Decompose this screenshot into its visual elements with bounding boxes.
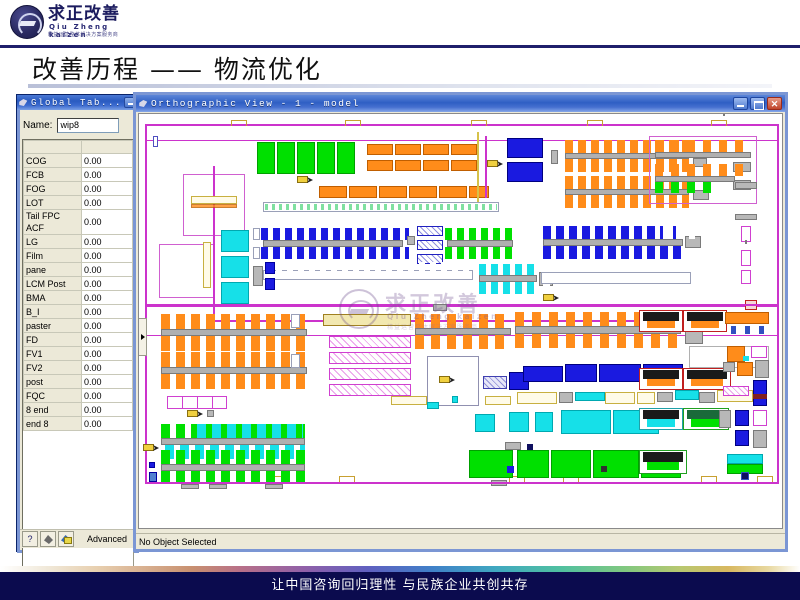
machine-cyan	[575, 392, 605, 401]
entry-marker	[153, 136, 158, 147]
machine-cyan-large	[535, 412, 553, 432]
machine-row-orange-lower	[415, 335, 511, 349]
table-cell-key[interactable]: 8 end	[24, 403, 82, 417]
machine-row-orange-lower	[161, 314, 307, 329]
table-row[interactable]: B_I0.00	[24, 305, 133, 319]
table-row[interactable]: LG0.00	[24, 235, 133, 249]
table-cell-value[interactable]: 0.00	[82, 196, 133, 210]
door-marker	[471, 120, 487, 126]
machine-cell-dark-base	[691, 379, 723, 386]
table-cell-value[interactable]: 0.00	[82, 361, 133, 375]
machine-green-large	[593, 450, 639, 478]
name-row: Name: wip8	[23, 117, 133, 133]
table-cell-key[interactable]: B_I	[24, 305, 82, 319]
agv-vehicle	[439, 376, 450, 383]
conveyor-line	[543, 239, 683, 246]
machine-orange	[451, 144, 477, 155]
hall-divider	[145, 304, 779, 306]
door-marker	[345, 120, 361, 126]
qiuzheng-logo-icon	[10, 5, 44, 39]
marker-blue	[507, 466, 514, 473]
conveyor-line	[161, 329, 307, 336]
cursor-arrow-page-icon[interactable]	[58, 531, 74, 547]
machine-orange	[439, 186, 467, 198]
machine-orange-right	[737, 362, 753, 376]
page-title: 改善历程 —— 物流优化	[32, 50, 322, 86]
machine-row-green-top	[445, 228, 515, 240]
rack-strip	[191, 196, 237, 204]
machine-cell-dark-body	[687, 370, 727, 379]
machine-orange	[379, 186, 407, 198]
machine-blue-large	[565, 364, 597, 382]
machine-row-green-bottom	[445, 247, 515, 259]
conveyor-teeth	[265, 204, 497, 210]
machine-orange	[319, 186, 347, 198]
machine-green-large	[469, 450, 513, 478]
rack-strip-vertical	[203, 242, 211, 288]
station-grey	[505, 442, 521, 450]
station-grey	[755, 360, 769, 378]
table-cell-value[interactable]: 0.00	[82, 347, 133, 361]
machine-orange	[367, 144, 393, 155]
machine-cell-base-green	[647, 462, 679, 470]
table-row[interactable]: FV20.00	[24, 361, 133, 375]
table-row[interactable]: FOG0.00	[24, 182, 133, 196]
station-grey	[723, 362, 735, 372]
door-marker	[711, 120, 727, 126]
machine-cell-dark-body	[643, 410, 679, 419]
agv-vehicle	[187, 410, 198, 417]
machine-orange	[423, 160, 449, 171]
footer-text: 让中国咨询回归理性 与民族企业共创共存	[0, 572, 800, 600]
global-table-dialog[interactable]: Global Tab... Name: wip8 COG0.00 FCB0.00…	[16, 94, 138, 552]
door-marker	[587, 120, 603, 126]
table-row[interactable]: BMA0.00	[24, 291, 133, 305]
machine-row-white-comb	[543, 262, 689, 272]
table-cell-value[interactable]: 0.00	[82, 154, 133, 168]
machine-white-end	[253, 228, 260, 240]
station-grey	[253, 266, 263, 286]
name-input[interactable]: wip8	[57, 118, 119, 133]
table-cell-key[interactable]: FV1	[24, 347, 82, 361]
marker-dark	[753, 394, 767, 399]
machine-blue-large	[599, 364, 641, 382]
machine-cyan	[675, 390, 699, 400]
machine-orange	[451, 160, 477, 171]
machine-blue	[265, 278, 275, 290]
machine-orange	[409, 186, 437, 198]
table-row[interactable]: COG0.00	[24, 154, 133, 168]
machine-white-end	[291, 314, 300, 328]
table-cell-value[interactable]: 0.00	[82, 375, 133, 389]
rack-hatched-magenta	[329, 368, 411, 380]
staging-area	[517, 392, 557, 404]
machine-green	[277, 142, 295, 174]
machine-row-orange	[655, 164, 751, 176]
table-row[interactable]: LCM Post0.00	[24, 277, 133, 291]
agv-vehicle	[297, 176, 308, 183]
machine-row-cyan	[479, 282, 537, 294]
logo-subtitle: 精益运营整体解决方案服务商	[48, 32, 118, 39]
corridor-line	[213, 166, 215, 322]
marker-blue	[149, 472, 157, 482]
marker-navy	[527, 444, 533, 450]
staging-area	[485, 396, 511, 405]
crossed-rack	[417, 226, 443, 236]
station-grey	[657, 392, 673, 402]
machine-row-blue-top	[261, 228, 409, 240]
app-icon	[138, 98, 149, 109]
marker-navy	[741, 472, 749, 480]
machine-cyan	[221, 230, 249, 252]
conveyor-line	[161, 367, 307, 374]
machine-cell-dark-base	[647, 379, 675, 386]
table-cell-key[interactable]: FV2	[24, 361, 82, 375]
fixture-small	[751, 346, 767, 358]
table-cell-key[interactable]: paster	[24, 319, 82, 333]
station-grey	[407, 236, 415, 245]
table-cell-key[interactable]: LG	[24, 235, 82, 249]
table-cell-value[interactable]: 0.00	[82, 210, 133, 235]
table-cell-key[interactable]: Tail FPC ACF	[24, 210, 82, 235]
station-grey	[433, 304, 447, 311]
table-cell-value[interactable]: 0.00	[82, 305, 133, 319]
orthographic-view-window[interactable]: Orthographic View - 1 - model	[133, 92, 788, 552]
machine-cell-dark-body	[643, 370, 679, 379]
machine-row-orange-lower	[415, 314, 511, 328]
table-header-cell	[82, 141, 133, 154]
tank-blue	[507, 162, 543, 182]
wall-right-vertical	[777, 124, 779, 484]
station-grey	[209, 484, 227, 489]
machine-cyan	[727, 454, 763, 464]
station-grey	[723, 114, 725, 116]
agv-vehicle	[143, 444, 154, 451]
station-grey	[699, 392, 715, 403]
conveyor-line	[479, 275, 537, 282]
station-grey	[265, 484, 283, 489]
machine-row-orange-lower	[161, 352, 307, 367]
table-cell-key[interactable]: end 8	[24, 417, 82, 431]
wall-segment	[485, 136, 487, 198]
machine-row-white	[663, 226, 695, 239]
machine-cell-dark-base	[691, 321, 719, 328]
machine-green-large	[517, 450, 549, 478]
table-cell-key[interactable]: BMA	[24, 291, 82, 305]
conveyor-line	[447, 240, 513, 247]
pillar-marker	[745, 326, 750, 334]
machine-white-end	[291, 354, 300, 368]
table-header-cell	[24, 141, 82, 154]
machine-row-white-outline	[265, 262, 471, 288]
machine-row-orange-lower	[161, 374, 307, 389]
conveyor-line	[161, 464, 305, 471]
table-cell-key[interactable]: pane	[24, 263, 82, 277]
station-grey	[735, 182, 757, 189]
pillar-marker	[731, 326, 736, 334]
marker-cyan	[427, 402, 439, 409]
table-cell-key[interactable]: FOG	[24, 182, 82, 196]
table-cell-key[interactable]: FCB	[24, 168, 82, 182]
machine-row-green-lower	[161, 450, 305, 464]
machine-cell-dark-body	[687, 312, 723, 321]
marker-dark	[601, 466, 607, 472]
staging-area	[391, 396, 427, 405]
machine-orange	[367, 160, 393, 171]
rack-long-yellow	[323, 314, 411, 326]
station-grey	[719, 410, 731, 428]
station-grey	[181, 484, 199, 489]
conveyor-line	[415, 328, 511, 335]
machine-cyan-large	[561, 410, 611, 434]
global-table: COG0.00 FCB0.00FOG0.00LOT0.00Tail FPC AC…	[23, 140, 133, 431]
machine-cell-base-cyan	[647, 419, 675, 427]
machine-cyan-large	[475, 414, 495, 432]
machine-row-green	[655, 182, 715, 193]
title-underline	[28, 84, 772, 88]
table-cell-key[interactable]: Film	[24, 249, 82, 263]
name-label: Name:	[23, 120, 52, 131]
table-row[interactable]: FD0.00	[24, 333, 133, 347]
header-divider	[0, 45, 800, 48]
table-cell-key[interactable]: LOT	[24, 196, 82, 210]
machine-orange	[395, 144, 421, 155]
aisle-line	[477, 132, 479, 202]
machine-cell-dark-body	[643, 312, 679, 321]
fixture-small	[753, 410, 767, 426]
window-controls	[733, 97, 782, 110]
agv-vehicle	[543, 294, 554, 301]
table-row[interactable]: end 80.00	[24, 417, 133, 431]
machine-cell-dark-base	[647, 321, 675, 328]
rack-hatched-pink	[723, 386, 749, 396]
machine-row-orange	[655, 140, 751, 152]
table-cell-value[interactable]: 0.00	[82, 319, 133, 333]
dialog-title: Global Tab...	[31, 98, 122, 108]
crossed-rack	[417, 240, 443, 250]
table-row[interactable]: 8 end0.00	[24, 403, 133, 417]
wall-bottom	[145, 482, 779, 484]
machine-blue-right	[753, 380, 767, 406]
machine-white-end	[253, 247, 260, 259]
marker-blue	[149, 462, 155, 468]
machine-orange	[395, 160, 421, 171]
rack-hatched-magenta	[329, 352, 411, 364]
table-row[interactable]: post0.00	[24, 375, 133, 389]
machine-row-orange-long	[515, 334, 681, 348]
machine-blue-large	[523, 366, 563, 382]
ortho-statusbar: No Object Selected	[136, 533, 785, 549]
minimize-icon[interactable]	[733, 97, 748, 110]
conveyor-white-strip	[541, 272, 691, 284]
machine-cell-dark-body	[643, 452, 683, 462]
table-row[interactable]: FQC0.00	[24, 389, 133, 403]
machine-cyan	[221, 256, 249, 278]
machine-green	[297, 142, 315, 174]
marker-cyan	[743, 356, 749, 361]
machine-blue	[265, 262, 275, 274]
fixture-small	[741, 250, 751, 266]
app-icon	[18, 97, 29, 108]
machine-row-blue-mid	[543, 246, 683, 259]
rack-row-pink	[167, 396, 227, 409]
fixture-small	[741, 270, 751, 284]
machine-row-blue-mid	[543, 226, 683, 239]
conveyor-line	[745, 242, 747, 244]
help-question-icon[interactable]: ?	[22, 531, 38, 547]
table-row[interactable]: FV10.00	[24, 347, 133, 361]
table-cell-key[interactable]: FQC	[24, 389, 82, 403]
table-cell-key[interactable]: FD	[24, 333, 82, 347]
machine-row-cyan-lower	[197, 424, 303, 438]
maximize-icon[interactable]	[750, 97, 765, 110]
agv-vehicle	[487, 160, 498, 167]
close-icon[interactable]	[767, 97, 782, 110]
rack-hatched-magenta	[329, 336, 411, 348]
rack-hatched-magenta	[329, 384, 411, 396]
staging-area	[605, 392, 635, 404]
rack-hatched-blue	[483, 376, 507, 389]
station-grey	[753, 430, 767, 448]
table-cell-value[interactable]: 0.00	[82, 417, 133, 431]
scroll-handle-icon[interactable]	[138, 318, 147, 356]
machine-row-blue-bottom	[261, 247, 409, 259]
machine-green-large	[551, 450, 591, 478]
station-grey	[551, 150, 558, 164]
table-cell-key[interactable]: post	[24, 375, 82, 389]
door-marker	[231, 120, 247, 126]
table-cell-value[interactable]: 0.00	[82, 235, 133, 249]
table-cell-value[interactable]: 0.00	[82, 277, 133, 291]
machine-row-orange-lower	[161, 336, 307, 351]
rack-strip	[191, 204, 237, 208]
table-cell-value[interactable]: 0.00	[82, 403, 133, 417]
table-cell-value[interactable]: 0.00	[82, 168, 133, 182]
machine-green	[337, 142, 355, 174]
conveyor-line	[263, 240, 403, 247]
cursor-arrow-icon[interactable]	[40, 531, 56, 547]
marker-cyan	[452, 396, 458, 403]
machine-row-white-comb	[543, 284, 689, 294]
slide-footer: 让中国咨询回归理性 与民族企业共创共存	[0, 572, 800, 600]
machine-blue-right	[735, 430, 749, 446]
table-cell-value[interactable]: 0.00	[82, 182, 133, 196]
machine-cell-base-green	[691, 419, 721, 427]
table-cell-value[interactable]: 0.00	[82, 333, 133, 347]
logo-chinese-name: 求正改善	[48, 4, 120, 24]
table-row[interactable]: pane0.00	[24, 263, 133, 277]
table-cell-value[interactable]: 0.00	[82, 291, 133, 305]
table-row[interactable]: Film0.00	[24, 249, 133, 263]
advanced-button[interactable]: Advanced	[78, 534, 136, 544]
conveyor-line	[161, 438, 305, 445]
brand-logo: 求正改善 Qiu Zheng kaizen 精益运营整体解决方案服务商	[6, 2, 130, 42]
table-cell-key[interactable]: COG	[24, 154, 82, 168]
conveyor-line	[655, 152, 751, 158]
ortho-titlebar[interactable]: Orthographic View - 1 - model	[136, 95, 785, 112]
dialog-titlebar[interactable]: Global Tab...	[17, 95, 139, 110]
dialog-button-bar: ? Advanced	[20, 529, 136, 548]
station-grey	[735, 214, 757, 220]
table-row[interactable]: paster0.00	[24, 319, 133, 333]
table-row[interactable]: LOT0.00	[24, 196, 133, 210]
machine-blue-right	[735, 410, 749, 426]
machine-orange	[423, 144, 449, 155]
machine-orange	[349, 186, 377, 198]
table-cell-value[interactable]: 0.00	[82, 389, 133, 403]
rack-orange-right	[725, 312, 769, 324]
table-cell-value[interactable]: 0.00	[82, 263, 133, 277]
table-row[interactable]: Tail FPC ACF0.00	[24, 210, 133, 235]
machine-green	[257, 142, 275, 174]
factory-layout-canvas[interactable]: 求正改善 Qiu Zheng kaizen 精益运营整体解决方案服务商	[138, 113, 783, 529]
machine-green	[317, 142, 335, 174]
status-text: No Object Selected	[139, 537, 217, 547]
staging-area	[637, 392, 655, 404]
machine-cyan-large	[509, 412, 529, 432]
pillar-marker	[759, 326, 764, 334]
station-grey	[207, 410, 214, 417]
tank-blue	[507, 138, 543, 158]
slide-root: 求正改善 Qiu Zheng kaizen 精益运营整体解决方案服务商 改善历程…	[0, 0, 800, 600]
table-cell-key[interactable]: LCM Post	[24, 277, 82, 291]
table-header-row	[24, 141, 133, 154]
machine-cyan	[221, 282, 249, 304]
table-cell-value[interactable]: 0.00	[82, 249, 133, 263]
station-grey	[559, 392, 573, 403]
table-row[interactable]: FCB0.00	[24, 168, 133, 182]
ortho-window-title: Orthographic View - 1 - model	[151, 98, 360, 109]
